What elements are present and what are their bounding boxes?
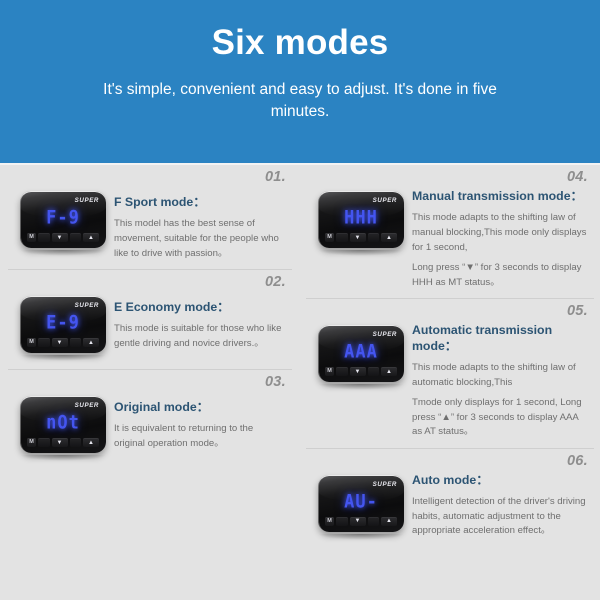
device-screen: AU-	[318, 490, 404, 514]
up-arrow-icon[interactable]: ▲	[83, 338, 99, 347]
device-brand-label: SUPER	[373, 331, 397, 338]
down-arrow-icon[interactable]: ▼	[350, 233, 366, 242]
mode-title: F Sport mode：	[114, 195, 286, 210]
mode-card-04: 04. SUPER HHH M ▼	[306, 165, 594, 299]
mode-description: Intelligent detection of the driver's dr…	[412, 495, 588, 539]
up-arrow-icon[interactable]: ▲	[381, 517, 397, 526]
device-screen: nOt	[20, 411, 106, 435]
button-spacer-left	[336, 233, 348, 242]
device-dropshadow	[318, 534, 404, 540]
button-spacer-right	[368, 517, 380, 526]
triangle-up-glyph: ▲	[88, 235, 94, 241]
device-screen: F-9	[20, 206, 106, 230]
device-button-row: M ▼ ▲	[20, 337, 106, 348]
page-subtitle: It's simple, convenient and easy to adju…	[80, 79, 520, 123]
triangle-up-glyph: ▲	[386, 235, 392, 241]
triangle-up-glyph: ▲	[386, 518, 392, 524]
device-dropshadow	[20, 250, 106, 256]
device-button-row: M ▼ ▲	[20, 437, 106, 448]
triangle-down-glyph: ▼	[57, 340, 63, 346]
device-brand-label: SUPER	[75, 197, 99, 204]
led-display-value: AU-	[344, 491, 378, 513]
button-spacer-left	[336, 367, 348, 376]
mode-title: Manual transmission mode：	[412, 189, 588, 204]
mode-description-extra: Long press “▼” for 3 seconds to display …	[412, 261, 588, 290]
throttle-controller-device: SUPER F-9 M ▼ ▲	[20, 191, 106, 248]
mode-description-extra: Tmode only displays for 1 second, Long p…	[412, 396, 588, 440]
device-image-06: SUPER AU- M ▼ ▲	[310, 459, 412, 540]
led-display-value: F-9	[46, 207, 80, 229]
hero-banner: Six modes It's simple, convenient and ea…	[0, 0, 600, 163]
modes-grid: 01. SUPER F-9 M ▼	[0, 165, 600, 548]
led-display-value: nOt	[46, 412, 80, 434]
led-display-value: AAA	[344, 341, 378, 363]
mode-text-05: Automatic transmission mode： This mode a…	[412, 309, 590, 440]
triangle-down-glyph: ▼	[57, 440, 63, 446]
triangle-down-glyph: ▼	[355, 518, 361, 524]
device-image-01: SUPER F-9 M ▼ ▲	[12, 175, 114, 256]
throttle-controller-device: SUPER AAA M ▼ ▲	[318, 325, 404, 382]
mode-number: 02.	[265, 274, 286, 290]
device-screen: AAA	[318, 340, 404, 364]
button-spacer-left	[336, 517, 348, 526]
throttle-controller-device: SUPER E-9 M ▼ ▲	[20, 296, 106, 353]
mode-number: 01.	[265, 169, 286, 185]
up-arrow-icon[interactable]: ▲	[381, 367, 397, 376]
up-arrow-icon[interactable]: ▲	[381, 233, 397, 242]
device-brand-label: SUPER	[373, 481, 397, 488]
device-image-04: SUPER HHH M ▼ ▲	[310, 175, 412, 256]
device-dropshadow	[20, 355, 106, 361]
triangle-up-glyph: ▲	[88, 340, 94, 346]
button-spacer-right	[70, 438, 82, 447]
mode-card-01: 01. SUPER F-9 M ▼	[8, 165, 292, 270]
device-button-row: M ▼ ▲	[20, 232, 106, 243]
up-arrow-icon[interactable]: ▲	[83, 233, 99, 242]
down-arrow-icon[interactable]: ▼	[52, 438, 68, 447]
mode-card-05: 05. SUPER AAA M ▼	[306, 299, 594, 449]
button-spacer-right	[70, 338, 82, 347]
mode-description: It is equivalent to returning to the ori…	[114, 422, 286, 451]
triangle-down-glyph: ▼	[355, 235, 361, 241]
mode-description: This mode adapts to the shifting law of …	[412, 211, 588, 255]
device-button-row: M ▼ ▲	[318, 516, 404, 527]
device-button-row: M ▼ ▲	[318, 366, 404, 377]
mode-title: Auto mode：	[412, 473, 588, 488]
down-arrow-icon[interactable]: ▼	[52, 338, 68, 347]
mode-button-m[interactable]: M	[325, 233, 334, 242]
button-spacer-left	[38, 338, 50, 347]
button-spacer-left	[38, 233, 50, 242]
page-root: Six modes It's simple, convenient and ea…	[0, 0, 600, 600]
device-button-row: M ▼ ▲	[318, 232, 404, 243]
button-spacer-right	[70, 233, 82, 242]
mode-text-02: E Economy mode： This mode is suitable fo…	[114, 280, 288, 352]
mode-button-m[interactable]: M	[325, 367, 334, 376]
mode-description: This mode adapts to the shifting law of …	[412, 361, 588, 390]
up-arrow-icon[interactable]: ▲	[83, 438, 99, 447]
mode-button-m[interactable]: M	[27, 233, 36, 242]
mode-card-06: 06. SUPER AU- M ▼	[306, 449, 594, 548]
device-brand-label: SUPER	[373, 197, 397, 204]
device-dropshadow	[20, 455, 106, 461]
mode-number: 06.	[567, 453, 588, 469]
mode-card-02: 02. SUPER E-9 M ▼	[8, 270, 292, 370]
throttle-controller-device: SUPER nOt M ▼ ▲	[20, 396, 106, 453]
mode-button-m[interactable]: M	[27, 338, 36, 347]
triangle-down-glyph: ▼	[355, 369, 361, 375]
device-brand-label: SUPER	[75, 302, 99, 309]
triangle-up-glyph: ▲	[88, 440, 94, 446]
button-spacer-right	[368, 233, 380, 242]
device-image-03: SUPER nOt M ▼ ▲	[12, 380, 114, 461]
button-spacer-left	[38, 438, 50, 447]
mode-number: 03.	[265, 374, 286, 390]
mode-description: This mode is suitable for those who like…	[114, 322, 286, 351]
mode-button-m[interactable]: M	[325, 517, 334, 526]
mode-number: 04.	[567, 169, 588, 185]
mode-description: This model has the best sense of movemen…	[114, 217, 286, 261]
device-dropshadow	[318, 250, 404, 256]
modes-column-right: 04. SUPER HHH M ▼	[300, 165, 600, 548]
mode-number: 05.	[567, 303, 588, 319]
throttle-controller-device: SUPER HHH M ▼ ▲	[318, 191, 404, 248]
mode-title: Original mode：	[114, 400, 286, 415]
device-image-05: SUPER AAA M ▼ ▲	[310, 309, 412, 390]
down-arrow-icon[interactable]: ▼	[350, 367, 366, 376]
mode-text-04: Manual transmission mode： This mode adap…	[412, 175, 590, 290]
device-screen: E-9	[20, 311, 106, 335]
device-image-02: SUPER E-9 M ▼ ▲	[12, 280, 114, 361]
mode-text-01: F Sport mode： This model has the best se…	[114, 175, 288, 261]
down-arrow-icon[interactable]: ▼	[52, 233, 68, 242]
mode-title: Automatic transmission mode：	[412, 323, 588, 354]
mode-button-m[interactable]: M	[27, 438, 36, 447]
down-arrow-icon[interactable]: ▼	[350, 517, 366, 526]
mode-text-03: Original mode： It is equivalent to retur…	[114, 380, 288, 452]
mode-card-03: 03. SUPER nOt M ▼	[8, 370, 292, 469]
device-screen: HHH	[318, 206, 404, 230]
button-spacer-right	[368, 367, 380, 376]
triangle-down-glyph: ▼	[57, 235, 63, 241]
led-display-value: HHH	[344, 207, 378, 229]
triangle-up-glyph: ▲	[386, 369, 392, 375]
page-title: Six modes	[0, 24, 600, 63]
modes-column-left: 01. SUPER F-9 M ▼	[0, 165, 300, 548]
device-brand-label: SUPER	[75, 402, 99, 409]
throttle-controller-device: SUPER AU- M ▼ ▲	[318, 475, 404, 532]
mode-text-06: Auto mode： Intelligent detection of the …	[412, 459, 590, 539]
mode-title: E Economy mode：	[114, 300, 286, 315]
led-display-value: E-9	[46, 312, 80, 334]
device-dropshadow	[318, 384, 404, 390]
